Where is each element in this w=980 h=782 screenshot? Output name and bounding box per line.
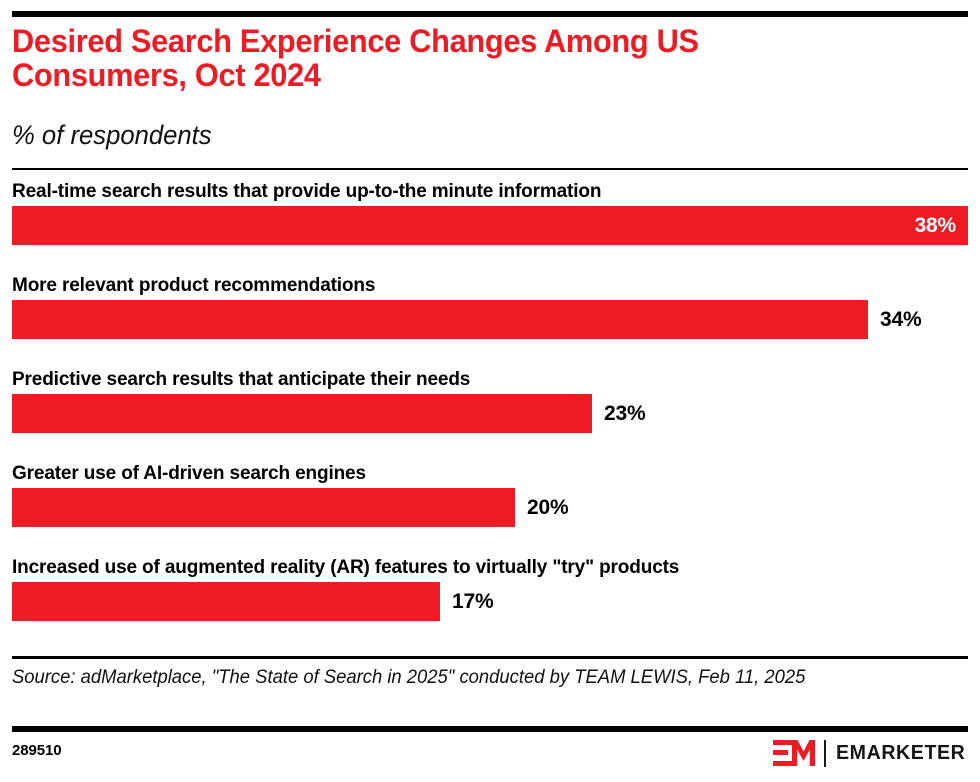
bar-fill xyxy=(12,394,592,433)
bar-fill xyxy=(12,582,440,621)
chart-content-area: Desired Search Experience Changes Among … xyxy=(12,0,968,782)
bar-value-label: 17% xyxy=(452,582,493,621)
bar-fill xyxy=(12,300,868,339)
logo-wordmark: EMARKETER xyxy=(836,742,965,765)
bar-group: Predictive search results that anticipat… xyxy=(12,368,968,443)
bar-fill xyxy=(12,488,515,527)
page-title: Desired Search Experience Changes Among … xyxy=(12,24,876,92)
em-monogram-icon xyxy=(773,740,815,766)
source-note: Source: adMarketplace, "The State of Sea… xyxy=(12,665,934,690)
subtitle-divider-rule xyxy=(12,168,968,170)
bar-value-label: 34% xyxy=(880,300,921,339)
bar-track: 17% xyxy=(12,582,968,621)
bar-value-label: 23% xyxy=(604,394,645,433)
chart-id: 289510 xyxy=(12,742,61,760)
bar-fill: 38% xyxy=(12,206,968,245)
bar-category-label: Real-time search results that provide up… xyxy=(12,180,601,202)
top-divider-rule xyxy=(12,11,968,17)
bar-value-label: 38% xyxy=(915,206,956,245)
page-subtitle: % of respondents xyxy=(12,120,212,150)
chart-page: Desired Search Experience Changes Among … xyxy=(0,0,980,782)
bar-group: Real-time search results that provide up… xyxy=(12,180,968,255)
bar-value-label: 20% xyxy=(527,488,568,527)
bar-track: 20% xyxy=(12,488,968,527)
bar-category-label: Predictive search results that anticipat… xyxy=(12,368,470,390)
bar-track: 23% xyxy=(12,394,968,433)
bar-track: 38% xyxy=(12,206,968,245)
bar-chart: Real-time search results that provide up… xyxy=(12,180,968,650)
bar-category-label: More relevant product recommendations xyxy=(12,274,375,296)
bar-category-label: Greater use of AI-driven search engines xyxy=(12,462,366,484)
bar-group: Greater use of AI-driven search engines … xyxy=(12,462,968,537)
logo-divider xyxy=(824,740,826,767)
bar-group: More relevant product recommendations 34… xyxy=(12,274,968,349)
bar-category-label: Increased use of augmented reality (AR) … xyxy=(12,556,679,578)
emarketer-logo[interactable]: EMARKETER xyxy=(773,738,968,768)
source-divider-rule xyxy=(12,656,968,659)
bar-track: 34% xyxy=(12,300,968,339)
footer-divider-rule xyxy=(12,726,968,732)
bar-group: Increased use of augmented reality (AR) … xyxy=(12,556,968,631)
